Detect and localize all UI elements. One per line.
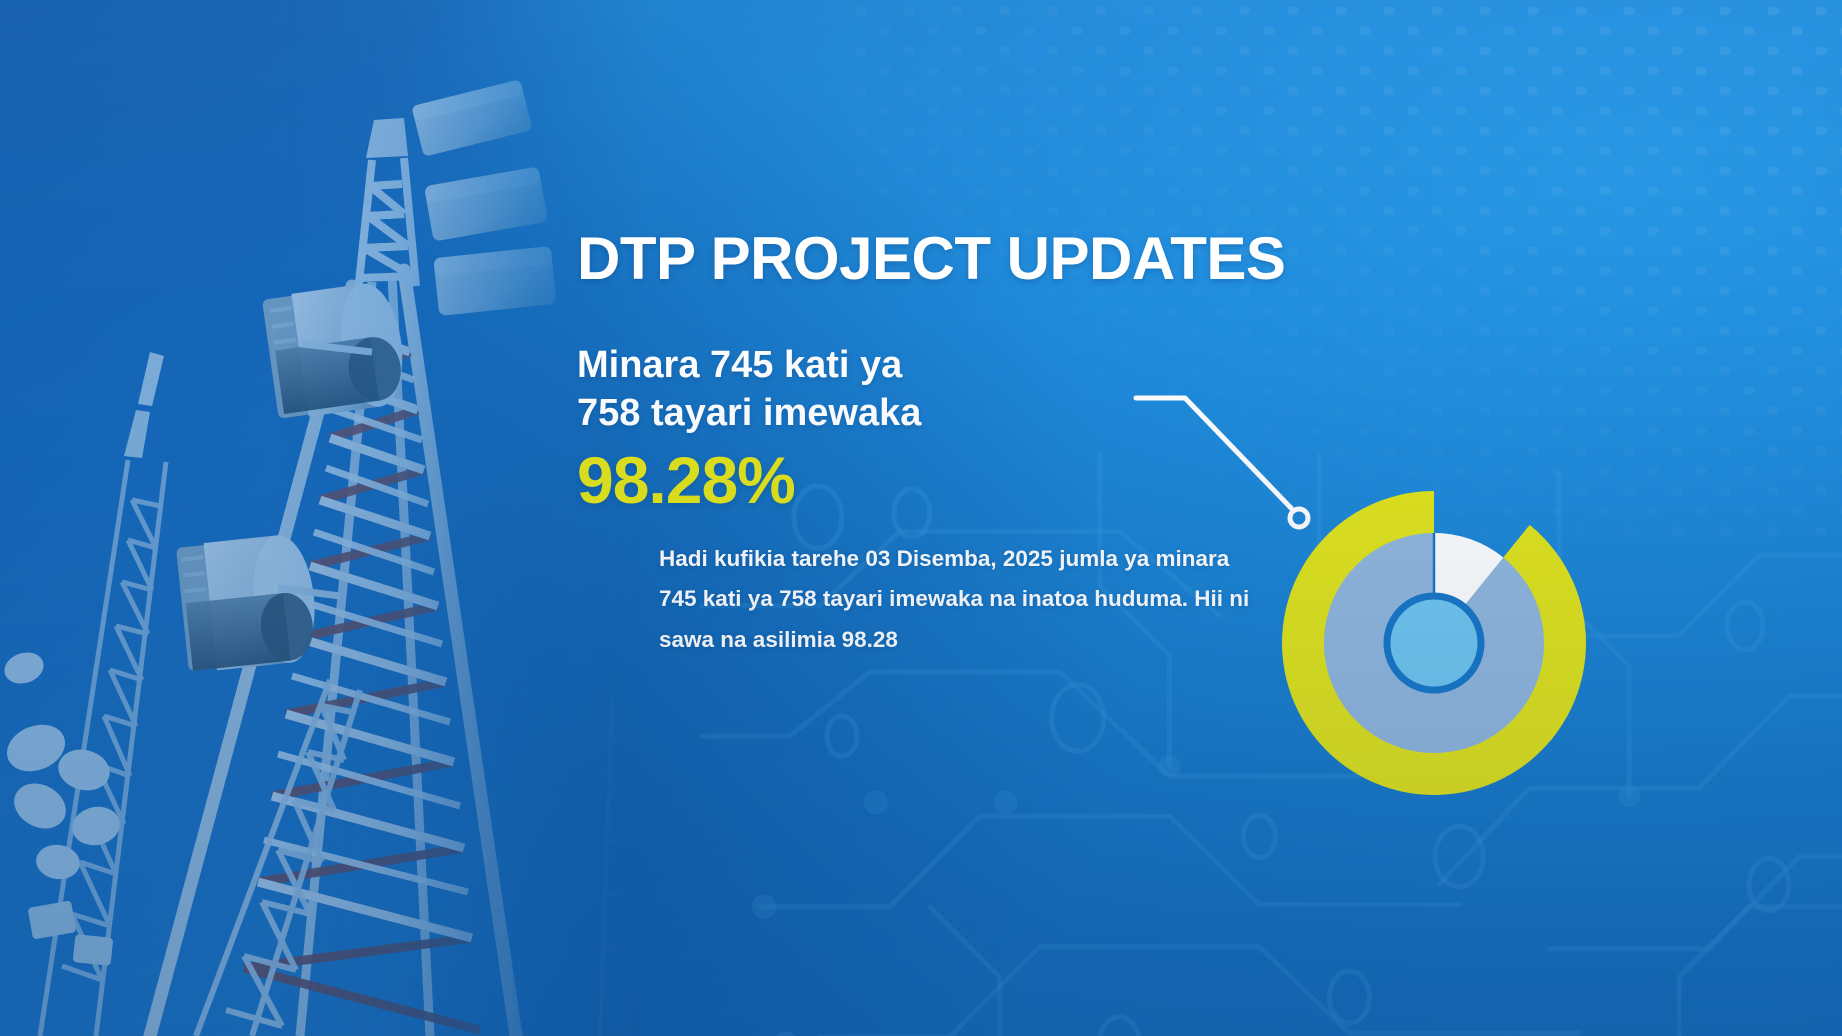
subheadline-line-1: Minara 745 kati ya	[577, 344, 902, 386]
completion-percentage: 98.28%	[577, 446, 1337, 515]
telecom-tower-photo	[0, 0, 640, 1036]
page-title: DTP PROJECT UPDATES	[577, 228, 1337, 290]
content-block: DTP PROJECT UPDATES Minara 745 kati ya 7…	[577, 228, 1337, 660]
chart-center-hub	[1387, 596, 1481, 690]
subheadline: Minara 745 kati ya 758 tayari imewaka	[577, 342, 1097, 438]
body-paragraph: Hadi kufikia tarehe 03 Disemba, 2025 jum…	[659, 539, 1259, 659]
infographic-canvas: DTP PROJECT UPDATES Minara 745 kati ya 7…	[0, 0, 1842, 1036]
subheadline-line-2: 758 tayari imewaka	[577, 392, 921, 434]
